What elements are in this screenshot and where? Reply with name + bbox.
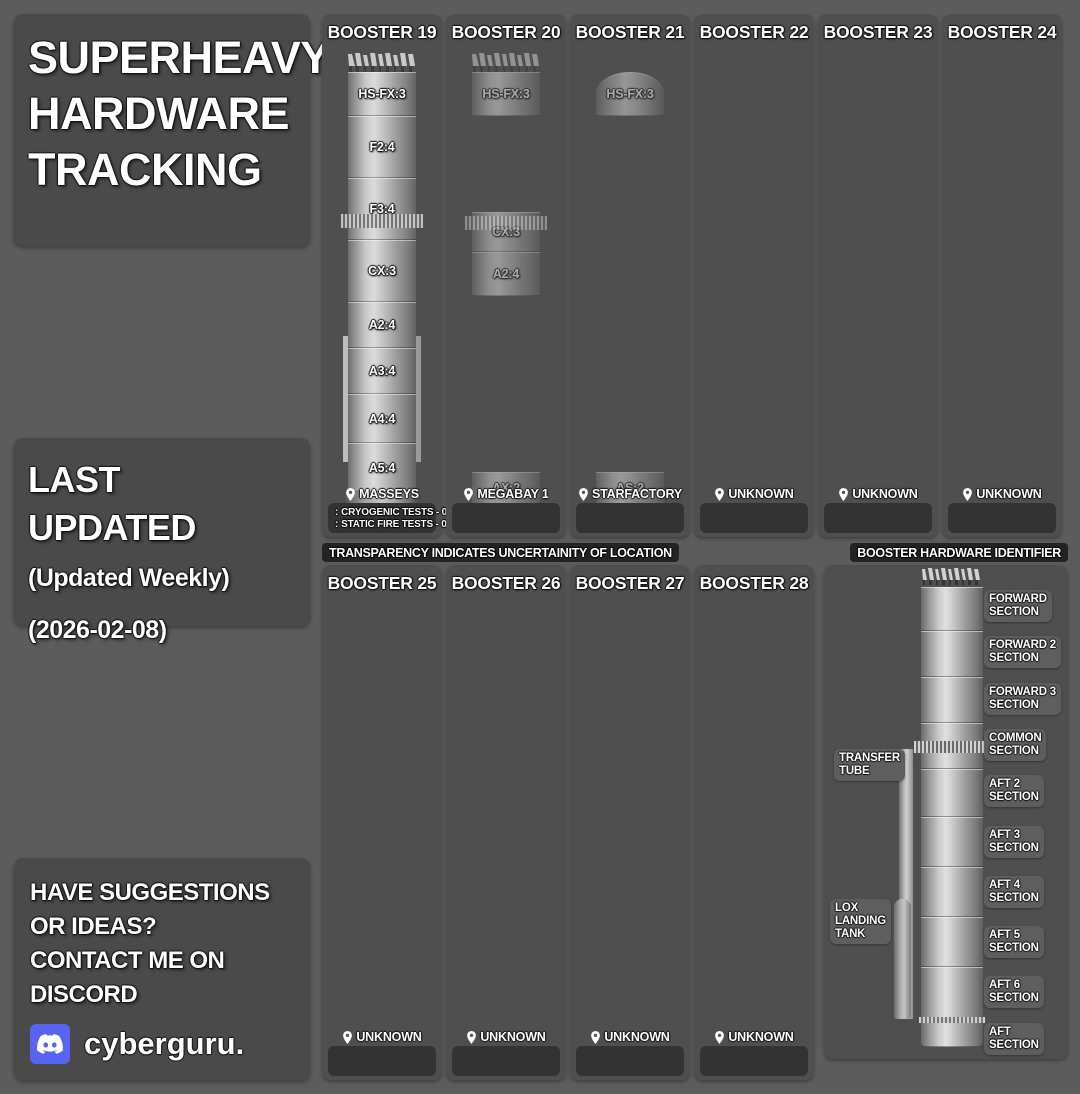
identifier-rocket-diagram <box>921 565 983 1059</box>
booster-card-20[interactable]: BOOSTER 20 <box>446 14 566 537</box>
test-row-staticfire: : STATIC FIRE TESTS - 00 <box>332 519 432 530</box>
booster-name: BOOSTER 25 <box>328 573 437 594</box>
booster-card-26[interactable]: BOOSTER 26 UNKNOWN <box>446 565 566 1080</box>
page-title-line-2: HARDWARE <box>28 86 296 142</box>
label-aft-4-section: AFT 4 SECTION <box>984 876 1044 908</box>
identifier-section-forward-2 <box>921 631 983 677</box>
location-pin-icon <box>578 488 589 501</box>
booster-card-22[interactable]: BOOSTER 22 UNKNOWN <box>694 14 814 537</box>
hardware-section: F3:4 <box>348 178 416 240</box>
booster-card-27[interactable]: BOOSTER 27 UNKNOWN <box>570 565 690 1080</box>
page-title-line-3: TRACKING <box>28 142 296 198</box>
label-common-section: COMMON SECTION <box>984 729 1046 761</box>
booster-name: BOOSTER 22 <box>700 22 809 43</box>
location-pin-icon <box>714 1031 725 1044</box>
banner-row: TRANSPARENCY INDICATES UNCERTAINITY OF L… <box>322 543 1068 562</box>
test-label: CRYOGENIC TESTS - 04 <box>341 507 452 518</box>
contact-line-4: DISCORD <box>30 978 296 1012</box>
superheavy-tracking-board: SUPERHEAVY HARDWARE TRACKING LAST UPDATE… <box>0 0 1080 1094</box>
hardware-section: A2:4 <box>472 252 540 296</box>
grid-fins-icon <box>469 52 543 74</box>
location-row: STARFACTORY <box>570 487 690 501</box>
location-label: MASSEYS <box>359 487 419 501</box>
test-summary-box <box>948 503 1056 533</box>
booster-row-bottom: BOOSTER 25 UNKNOWN BOOSTER 26 UNKNOWN <box>322 565 814 1080</box>
label-aft-3-section: AFT 3 SECTION <box>984 826 1044 858</box>
location-label: UNKNOWN <box>728 1030 793 1044</box>
page-title-line-1: SUPERHEAVY <box>28 30 296 86</box>
booster-name: BOOSTER 19 <box>328 22 437 43</box>
booster-stack: HS-FX:3 AS:2 <box>570 48 690 479</box>
location-row: UNKNOWN <box>694 1030 814 1044</box>
identifier-banner: BOOSTER HARDWARE IDENTIFIER <box>850 543 1068 562</box>
transparency-legend-text: TRANSPARENCY INDICATES UNCERTAINITY OF L… <box>329 546 672 560</box>
location-label: UNKNOWN <box>480 1030 545 1044</box>
label-forward-2-section: FORWARD 2 SECTION <box>984 636 1061 668</box>
hardware-section: HS-FX:3 <box>472 72 540 116</box>
label-transfer-tube: TRANSFER TUBE <box>834 749 905 781</box>
identifier-section-aft-2 <box>921 769 983 817</box>
booster-stack: HS-FX:3 F2:4 F3:4 CX:3 A2:4 A3:4 <box>322 48 442 479</box>
booster-card-24[interactable]: BOOSTER 24 UNKNOWN <box>942 14 1062 537</box>
test-summary-box: : CRYOGENIC TESTS - 04 : STATIC FIRE TES… <box>328 503 436 533</box>
grid-fins-icon <box>345 52 419 74</box>
label-aft-6-section: AFT 6 SECTION <box>984 976 1044 1008</box>
location-row: UNKNOWN <box>570 1030 690 1044</box>
hardware-section: A5:4 <box>348 443 416 492</box>
test-summary-box <box>452 1046 560 1076</box>
booster-name: BOOSTER 23 <box>824 22 933 43</box>
discord-icon <box>30 1024 70 1064</box>
engine-bay <box>919 1017 985 1023</box>
booster-name: BOOSTER 28 <box>700 573 809 594</box>
location-pin-icon <box>463 488 474 501</box>
location-label: MEGABAY 1 <box>477 487 548 501</box>
hardware-section: HS-FX:3 <box>348 72 416 116</box>
location-label: UNKNOWN <box>604 1030 669 1044</box>
label-aft-5-section: AFT 5 SECTION <box>984 926 1044 958</box>
location-row: UNKNOWN <box>818 487 938 501</box>
location-pin-icon <box>342 1031 353 1044</box>
location-row: UNKNOWN <box>694 487 814 501</box>
label-lox-landing-tank: LOX LANDING TANK <box>830 899 891 944</box>
booster-card-25[interactable]: BOOSTER 25 UNKNOWN <box>322 565 442 1080</box>
test-summary-box <box>576 503 684 533</box>
identifier-section-aft-3 <box>921 817 983 867</box>
location-row: MEGABAY 1 <box>446 487 566 501</box>
booster-card-23[interactable]: BOOSTER 23 UNKNOWN <box>818 14 938 537</box>
booster-name: BOOSTER 21 <box>576 22 685 43</box>
label-aft-2-section: AFT 2 SECTION <box>984 775 1044 807</box>
test-label: STATIC FIRE TESTS - 00 <box>341 519 452 530</box>
booster-stack: HS-FX:3 CX:3 A2:4 AX:2 <box>446 48 566 479</box>
location-row: UNKNOWN <box>446 1030 566 1044</box>
test-summary-box <box>824 503 932 533</box>
booster-row-top: BOOSTER 19 <box>322 14 1062 537</box>
left-rail: SUPERHEAVY HARDWARE TRACKING LAST UPDATE… <box>14 14 310 1080</box>
location-label: UNKNOWN <box>852 487 917 501</box>
test-summary-box <box>700 503 808 533</box>
location-label: STARFACTORY <box>592 487 682 501</box>
booster-card-19[interactable]: BOOSTER 19 <box>322 14 442 537</box>
location-pin-icon <box>466 1031 477 1044</box>
hardware-section: HS-FX:3 <box>596 72 664 116</box>
booster-name: BOOSTER 27 <box>576 573 685 594</box>
location-pin-icon <box>345 488 356 501</box>
location-row: MASSEYS <box>322 487 442 501</box>
identifier-section-forward-3 <box>921 677 983 723</box>
location-pin-icon <box>590 1031 601 1044</box>
chine-band <box>465 216 547 230</box>
test-summary-box <box>576 1046 684 1076</box>
label-forward-3-section: FORWARD 3 SECTION <box>984 683 1061 715</box>
contact-card: HAVE SUGGESTIONS OR IDEAS? CONTACT ME ON… <box>14 858 310 1080</box>
hardware-section: F2:4 <box>348 116 416 178</box>
location-label: UNKNOWN <box>356 1030 421 1044</box>
label-aft-section: AFT SECTION <box>984 1023 1044 1055</box>
identifier-section-aft-4 <box>921 867 983 917</box>
booster-card-21[interactable]: BOOSTER 21 HS-FX:3 AS:2 STARFACTORY <box>570 14 690 537</box>
update-cadence: (Updated Weekly) <box>28 552 296 604</box>
booster-card-28[interactable]: BOOSTER 28 UNKNOWN <box>694 565 814 1080</box>
title-card: SUPERHEAVY HARDWARE TRACKING <box>14 14 310 246</box>
booster-name: BOOSTER 26 <box>452 573 561 594</box>
label-forward-section: FORWARD SECTION <box>984 590 1052 622</box>
chine-band <box>914 741 990 753</box>
identifier-banner-text: BOOSTER HARDWARE IDENTIFIER <box>857 546 1061 560</box>
test-row-cryo: : CRYOGENIC TESTS - 04 <box>332 507 432 518</box>
identifier-section-forward <box>921 587 983 631</box>
location-row: UNKNOWN <box>942 487 1062 501</box>
location-pin-icon <box>962 488 973 501</box>
contact-line-3: CONTACT ME ON <box>30 944 296 978</box>
booster-name: BOOSTER 24 <box>948 22 1057 43</box>
contact-line-2: OR IDEAS? <box>30 910 296 944</box>
location-pin-icon <box>838 488 849 501</box>
booster-name: BOOSTER 20 <box>452 22 561 43</box>
test-summary-box <box>452 503 560 533</box>
chine-band <box>341 214 423 228</box>
lox-landing-tank-part <box>894 899 911 1019</box>
update-date: (2026-02-08) <box>28 604 296 656</box>
identifier-section-aft <box>921 1019 983 1047</box>
grid-fins-icon <box>920 567 984 587</box>
transparency-legend-banner: TRANSPARENCY INDICATES UNCERTAINITY OF L… <box>322 543 679 562</box>
test-summary-box <box>700 1046 808 1076</box>
identifier-section-aft-6 <box>921 967 983 1019</box>
discord-handle-row[interactable]: cyberguru. <box>30 1024 296 1064</box>
location-label: UNKNOWN <box>728 487 793 501</box>
location-label: UNKNOWN <box>976 487 1041 501</box>
booster-hardware-identifier-panel: TRANSFER TUBE LOX LANDING TANK FORWARD S… <box>824 565 1068 1059</box>
last-updated-card: LAST UPDATED (Updated Weekly) (2026-02-0… <box>14 438 310 626</box>
location-row: UNKNOWN <box>322 1030 442 1044</box>
location-pin-icon <box>714 488 725 501</box>
hardware-section: A4:4 <box>348 394 416 443</box>
contact-line-1: HAVE SUGGESTIONS <box>30 876 296 910</box>
test-summary-box <box>328 1046 436 1076</box>
identifier-section-aft-5 <box>921 917 983 967</box>
discord-username: cyberguru. <box>84 1026 244 1062</box>
last-updated-heading: LAST UPDATED <box>28 456 296 552</box>
hardware-section: CX:3 <box>348 240 416 302</box>
